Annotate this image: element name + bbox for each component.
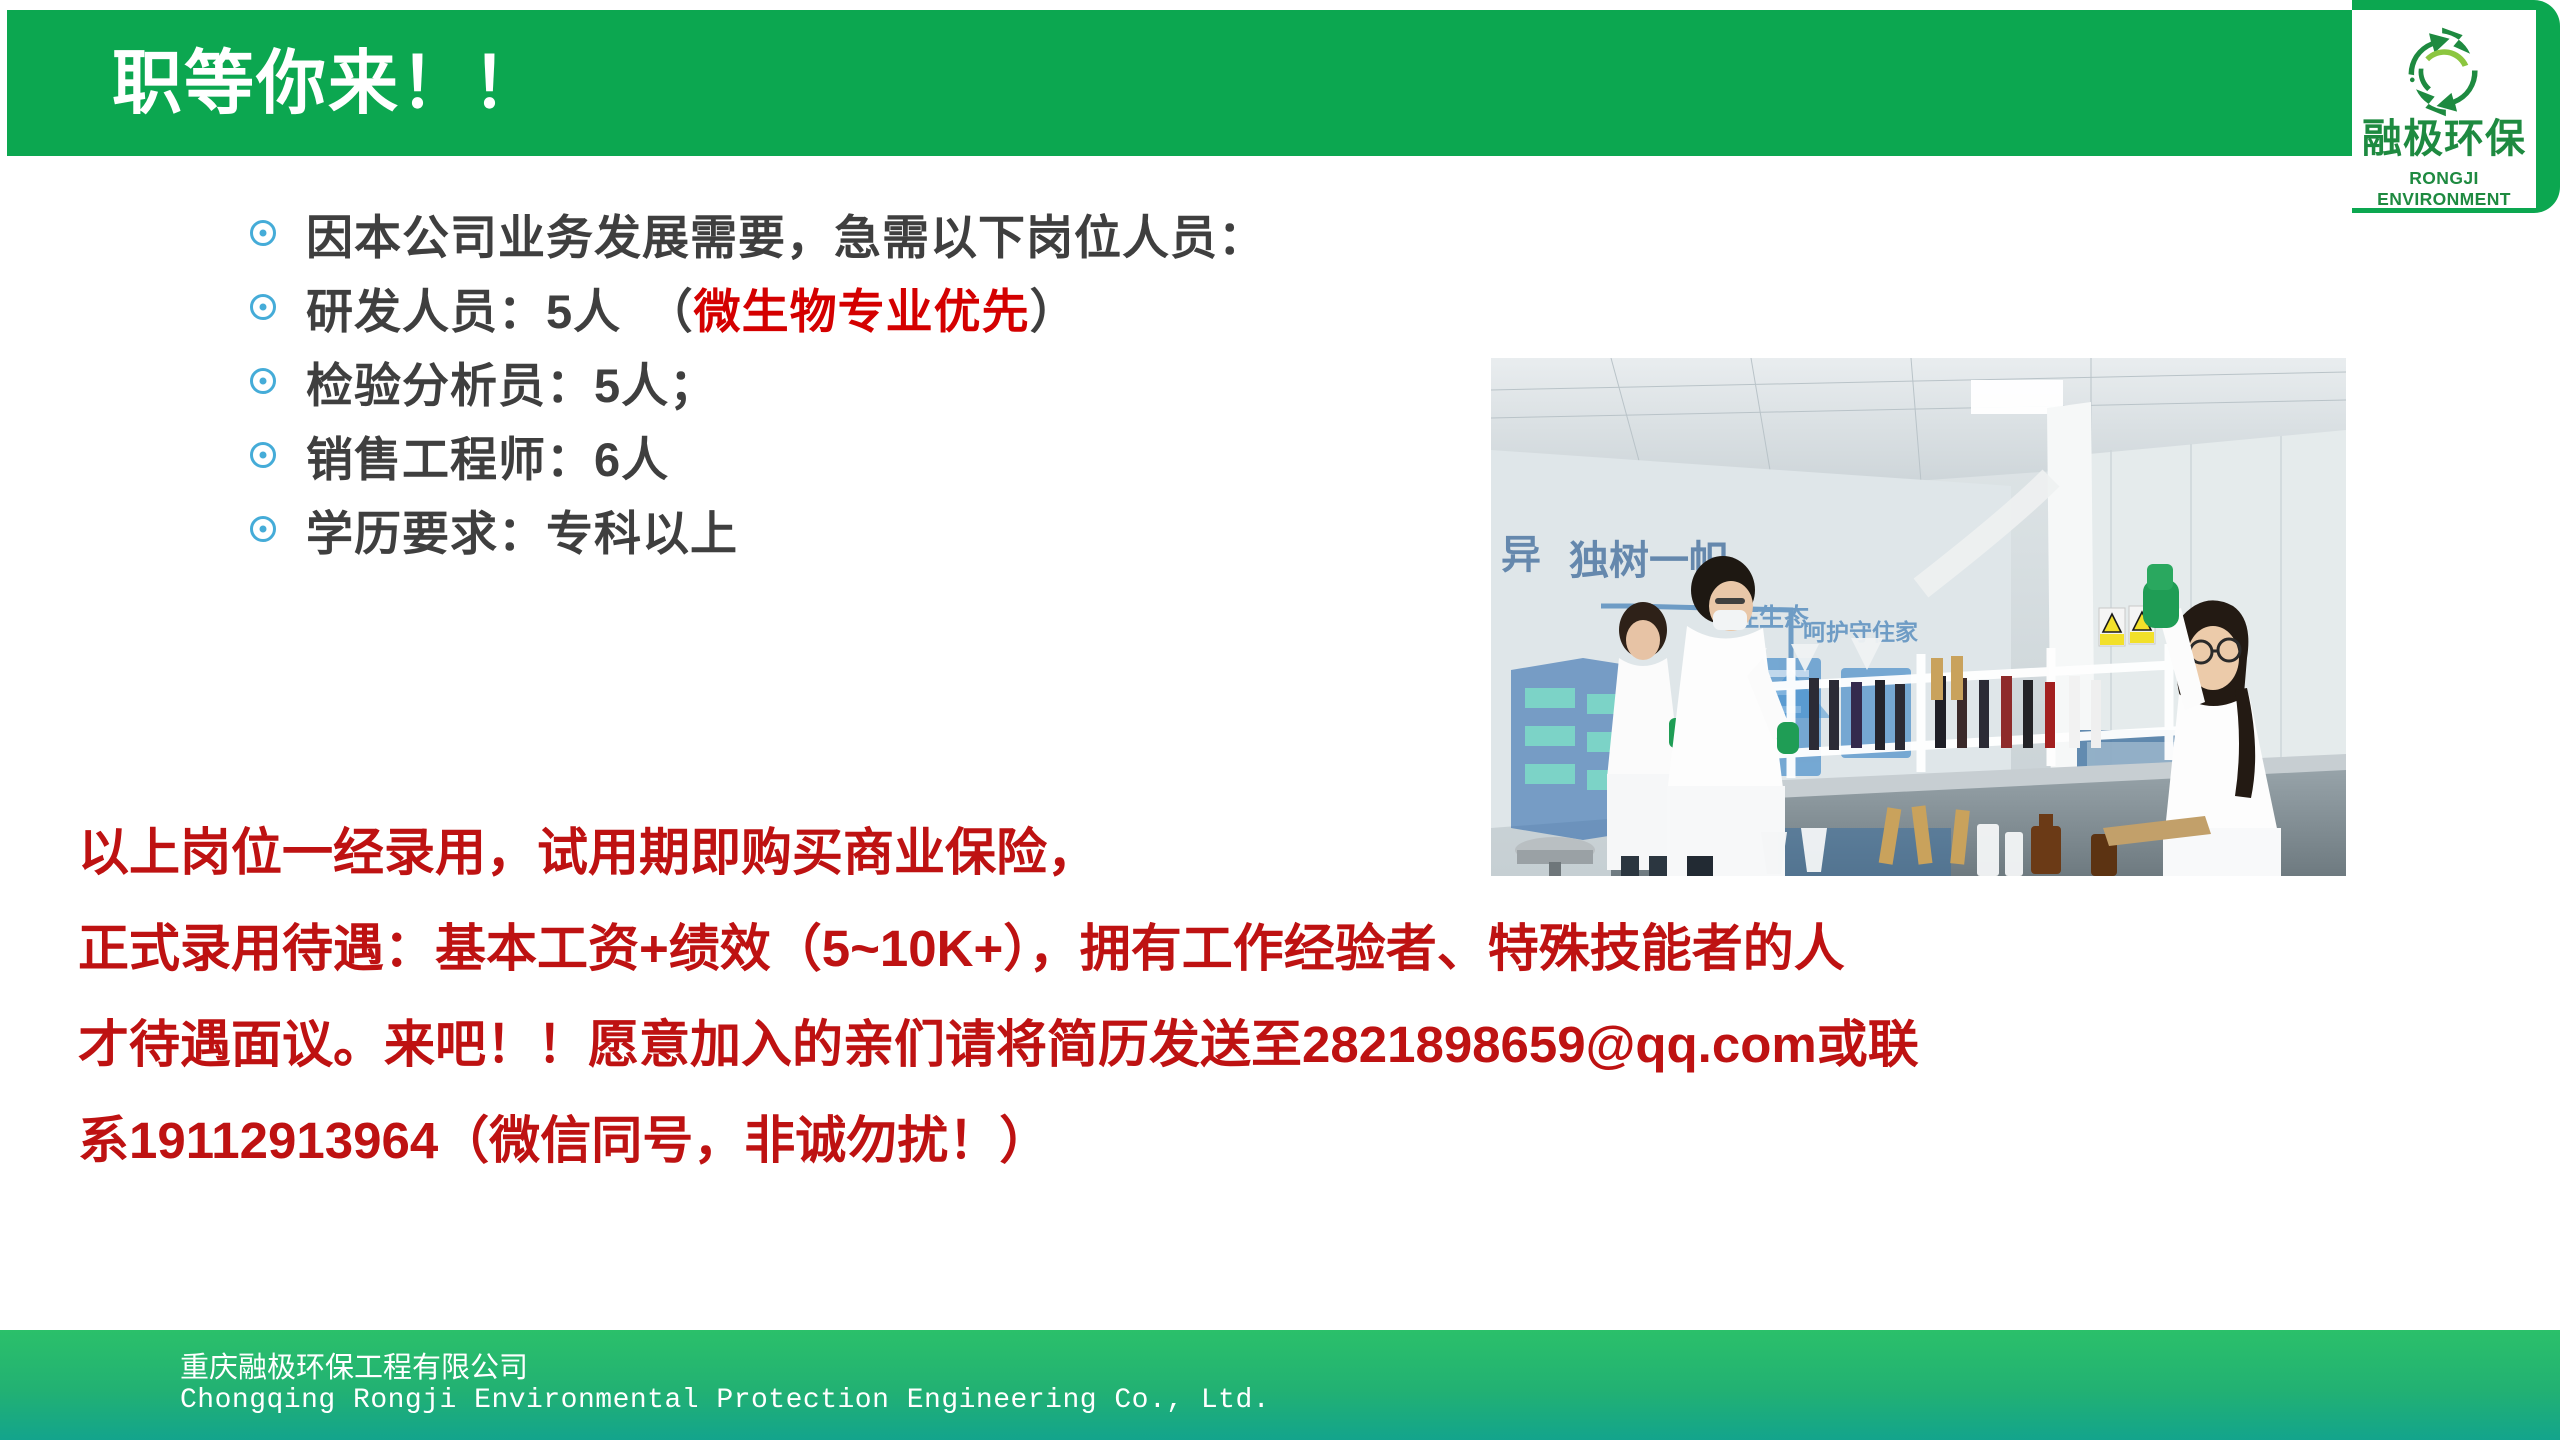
laboratory-team-photo: 异 独树一帜 守住生态 呵护守住家 — [1491, 358, 2346, 876]
plain-text: 研发人员：5人 （ — [306, 285, 694, 338]
ring-dot-bullet-icon — [250, 220, 276, 246]
paragraph-line: 系19112913964（微信同号，非诚勿扰！） — [78, 1093, 2518, 1189]
recycle-circle-icon — [2388, 22, 2500, 120]
highlight-text: 微生物专业优先 — [694, 285, 1030, 338]
footer-company-en: Chongqing Rongji Environmental Protectio… — [180, 1385, 1270, 1416]
logo-white-plate: 融极环保 RONGJI ENVIRONMENT — [2352, 10, 2536, 208]
ring-dot-bullet-icon — [250, 294, 276, 320]
logo-english-name: RONGJI ENVIRONMENT — [2352, 168, 2536, 210]
logo-chinese-name: 融极环保 — [2352, 118, 2536, 160]
plain-text: 因本公司业务发展需要，急需以下岗位人员： — [306, 211, 1266, 264]
ring-dot-bullet-icon — [250, 442, 276, 468]
page-title: 职等你来！！ — [112, 48, 544, 118]
header-banner: 职等你来！！ — [7, 10, 2397, 156]
footer-banner: 重庆融极环保工程有限公司 Chongqing Rongji Environmen… — [0, 1330, 2560, 1440]
list-item-label: 检验分析员：5人； — [306, 347, 717, 416]
list-item-label: 研发人员：5人 （微生物专业优先） — [306, 273, 1078, 342]
plain-text: ） — [1030, 285, 1078, 338]
list-item: 检验分析员：5人； — [250, 344, 1500, 418]
recruitment-details-paragraph: 以上岗位一经录用，试用期即购买商业保险，正式录用待遇：基本工资+绩效（5~10K… — [78, 805, 2518, 1189]
list-item: 因本公司业务发展需要，急需以下岗位人员： — [250, 196, 1500, 270]
job-bullet-list: 因本公司业务发展需要，急需以下岗位人员：研发人员：5人 （微生物专业优先）检验分… — [250, 196, 1500, 566]
list-item-label: 销售工程师：6人 — [306, 421, 669, 490]
plain-text: 学历要求：专科以上 — [306, 507, 738, 560]
paragraph-line: 才待遇面议。来吧！！愿意加入的亲们请将简历发送至2821898659@qq.co… — [78, 997, 2518, 1093]
svg-text:异: 异 — [1501, 533, 1541, 577]
paragraph-line: 正式录用待遇：基本工资+绩效（5~10K+），拥有工作经验者、特殊技能者的人 — [78, 901, 2518, 997]
plain-text: 销售工程师：6人 — [306, 433, 669, 486]
list-item: 销售工程师：6人 — [250, 418, 1500, 492]
ring-dot-bullet-icon — [250, 368, 276, 394]
paragraph-line: 以上岗位一经录用，试用期即购买商业保险， — [78, 805, 2518, 901]
plain-text: 检验分析员：5人； — [306, 359, 717, 412]
list-item: 研发人员：5人 （微生物专业优先） — [250, 270, 1500, 344]
list-item: 学历要求：专科以上 — [250, 492, 1500, 566]
ring-dot-bullet-icon — [250, 516, 276, 542]
list-item-label: 学历要求：专科以上 — [306, 495, 738, 564]
list-item-label: 因本公司业务发展需要，急需以下岗位人员： — [306, 199, 1266, 268]
footer-company-cn: 重庆融极环保工程有限公司 — [180, 1344, 528, 1386]
company-logo: 融极环保 RONGJI ENVIRONMENT — [2352, 0, 2560, 213]
